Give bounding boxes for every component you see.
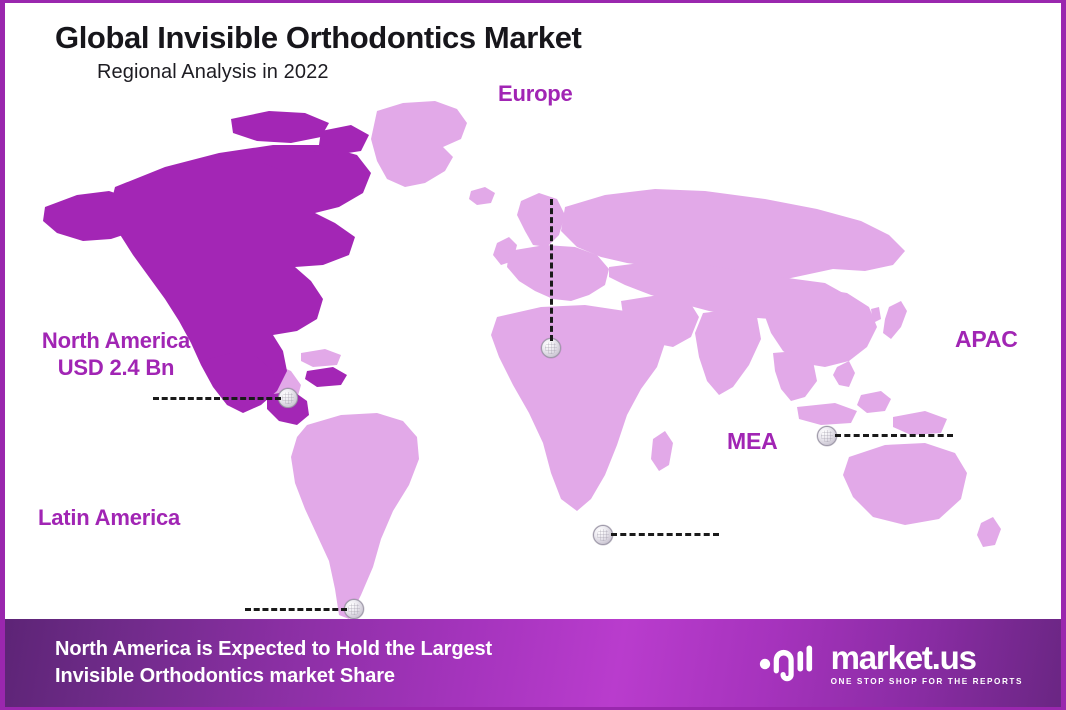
region-indonesia-1	[797, 403, 857, 425]
region-iceland	[469, 187, 495, 205]
region-south-america	[291, 413, 419, 619]
region-label-apac[interactable]: APAC	[955, 325, 1018, 353]
region-label-north-america[interactable]: North America USD 2.4 Bn	[18, 328, 214, 382]
logo-wordmark: market.us	[831, 641, 976, 674]
region-canadian-arctic	[231, 111, 329, 143]
leader-line-mea	[611, 533, 719, 536]
footer-headline: North America is Expected to Hold the La…	[55, 636, 492, 690]
region-japan	[883, 301, 907, 339]
marker-europe[interactable]	[541, 338, 561, 358]
region-australia	[843, 443, 967, 525]
region-greenland	[371, 101, 467, 187]
region-madagascar	[651, 431, 673, 471]
region-caribbean-highlight	[305, 367, 347, 387]
marker-north-america[interactable]	[278, 388, 298, 408]
footer-headline-line2: Invisible Orthodontics market Share	[55, 663, 492, 690]
region-label-north-america-name: North America	[42, 328, 190, 353]
region-label-mea[interactable]: MEA	[727, 427, 778, 455]
region-new-guinea	[893, 411, 947, 435]
marker-latin-america[interactable]	[344, 599, 364, 619]
region-indonesia-2	[857, 391, 891, 413]
region-new-zealand	[977, 517, 1001, 547]
leader-line-north-america	[153, 397, 281, 400]
marker-apac[interactable]	[817, 426, 837, 446]
region-africa	[491, 305, 665, 511]
region-label-europe[interactable]: Europe	[498, 81, 573, 108]
header: Global Invisible Orthodontics Market Reg…	[5, 3, 1061, 84]
market-us-bars-icon	[759, 639, 821, 687]
footer-banner: North America is Expected to Hold the La…	[5, 619, 1061, 707]
region-philippines	[833, 361, 855, 387]
leader-line-europe	[550, 199, 553, 341]
region-scandinavia	[517, 193, 565, 247]
marker-mea[interactable]	[593, 525, 613, 545]
leader-line-apac	[835, 434, 953, 437]
infographic-canvas: Global Invisible Orthodontics Market Reg…	[0, 0, 1066, 710]
market-us-logo[interactable]: market.us ONE STOP SHOP FOR THE REPORTS	[759, 639, 1033, 687]
region-label-north-america-value: USD 2.4 Bn	[18, 355, 214, 382]
page-subtitle: Regional Analysis in 2022	[97, 61, 1061, 84]
leader-line-latin-america	[245, 608, 347, 611]
page-title: Global Invisible Orthodontics Market	[55, 21, 1061, 56]
logo-tagline: ONE STOP SHOP FOR THE REPORTS	[831, 677, 1023, 686]
region-caribbean	[301, 349, 341, 367]
region-label-latin-america[interactable]: Latin America	[38, 505, 180, 532]
logo-text-block: market.us ONE STOP SHOP FOR THE REPORTS	[831, 641, 1023, 686]
region-india	[695, 309, 761, 395]
footer-headline-line1: North America is Expected to Hold the La…	[55, 636, 492, 663]
